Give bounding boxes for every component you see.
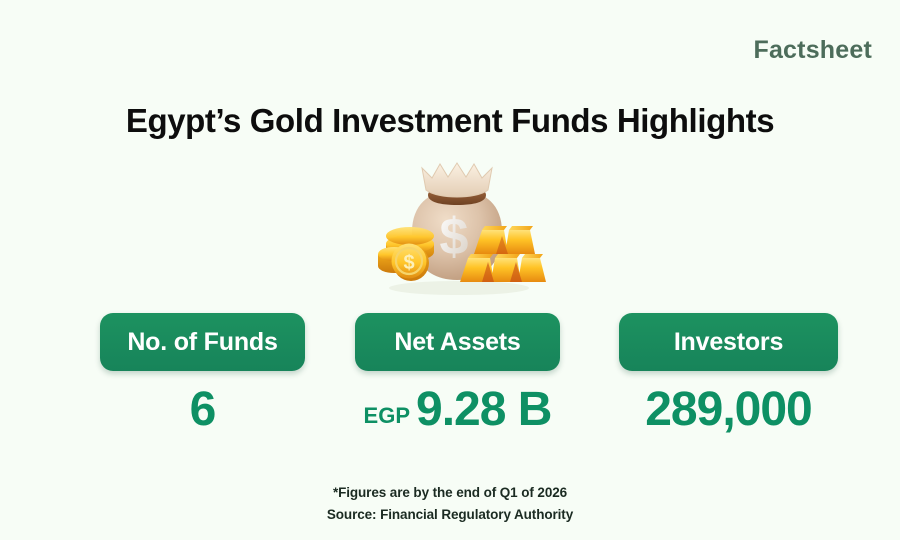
metric-label-pill-no-of-funds[interactable]: No. of Funds [100, 313, 305, 371]
metric-net-assets: Net Assets EGP 9.28 B [355, 313, 560, 435]
footnotes: *Figures are by the end of Q1 of 2026 So… [0, 482, 900, 526]
footnote-figures-period: *Figures are by the end of Q1 of 2026 [0, 482, 900, 504]
factsheet-tag: Factsheet [753, 36, 872, 65]
money-bag-gold-illustration: $ [364, 162, 550, 297]
metric-no-of-funds: No. of Funds 6 [100, 313, 305, 435]
gold-coins-icon: $ [378, 227, 434, 281]
metric-value-no-of-funds: 6 [100, 385, 305, 435]
metrics-row: No. of Funds 6 Net Assets EGP 9.28 B Inv… [0, 313, 900, 463]
svg-text:$: $ [440, 208, 469, 266]
page-title: Egypt’s Gold Investment Funds Highlights [0, 102, 900, 140]
metric-value-investors: 289,000 [619, 385, 838, 435]
metric-value-text-net-assets: 9.28 B [416, 385, 551, 435]
dollar-sign-icon: $ [440, 208, 469, 266]
factsheet-canvas: Factsheet Egypt’s Gold Investment Funds … [0, 0, 900, 540]
metric-value-text-investors: 289,000 [645, 385, 812, 435]
metric-value-text-no-of-funds: 6 [190, 385, 216, 435]
metric-value-net-assets: EGP 9.28 B [355, 385, 560, 435]
metric-investors: Investors 289,000 [619, 313, 838, 435]
footnote-source: Source: Financial Regulatory Authority [0, 504, 900, 526]
svg-text:$: $ [403, 252, 414, 274]
metric-label-pill-net-assets[interactable]: Net Assets [355, 313, 560, 371]
metric-currency-net-assets: EGP [364, 404, 410, 427]
metric-label-pill-investors[interactable]: Investors [619, 313, 838, 371]
